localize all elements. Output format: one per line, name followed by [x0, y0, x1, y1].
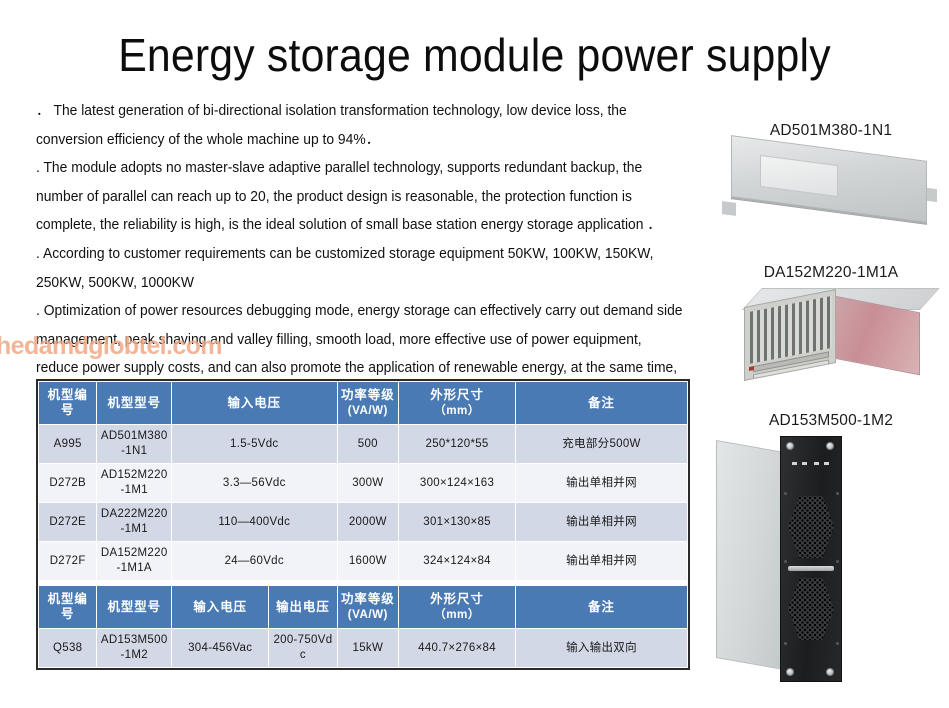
product-image-ad153m500-1m2	[714, 430, 948, 686]
spec-table-grid: 机型编号 机型型号 输入电压 功率等级 (VA/W) 外形尺寸 （mm） 备注	[38, 381, 688, 668]
header-cell-power-level: 功率等级 (VA/W)	[337, 382, 399, 425]
body-paragraph-3: . According to customer requirements can…	[36, 240, 684, 297]
panel-screw-icon	[826, 442, 834, 450]
table-header-row-section2: 机型编号 机型型号 输入电压 输出电压 功率等级 (VA/W) 外形尺寸 （mm	[39, 586, 688, 629]
header-cell-model-number-2: 机型编号	[39, 586, 97, 629]
cell-input-voltage: 3.3—56Vdc	[172, 464, 337, 503]
panel-fastener-icon	[836, 492, 839, 495]
cell-power-level: 2000W	[337, 503, 399, 542]
header-cell-remarks: 备注	[515, 382, 687, 425]
cell-model-type: AD153M500-1M2	[97, 629, 172, 668]
cell-dimensions: 301×130×85	[399, 503, 516, 542]
header-cell-power-level-2: 功率等级 (VA/W)	[337, 586, 399, 629]
table-header-row-section1: 机型编号 机型型号 输入电压 功率等级 (VA/W) 外形尺寸 （mm） 备注	[39, 382, 688, 425]
header-cell-model-type: 机型型号	[97, 382, 172, 425]
header-cell-remarks-2: 备注	[515, 586, 687, 629]
cell-remarks: 输出单相并网	[515, 503, 687, 542]
product-block-3: AD153M500-1M2	[714, 412, 948, 686]
table-row: A995 AD501M380-1N1 1.5-5Vdc 500 250*120*…	[39, 425, 688, 464]
cell-model-number: Q538	[39, 629, 97, 668]
header-cell-output-voltage-2: 输出电压	[269, 586, 337, 629]
cell-input-voltage: 1.5-5Vdc	[172, 425, 337, 464]
panel-screw-icon	[826, 668, 834, 676]
header-cell-input-voltage: 输入电压	[172, 382, 337, 425]
product-image-ad501m380-1n1	[714, 140, 948, 236]
panel-fastener-icon	[784, 492, 787, 495]
panel-fastener-icon	[836, 560, 839, 563]
cell-input-voltage: 24—60Vdc	[172, 542, 337, 581]
cell-model-type: AD152M220-1M1	[97, 464, 172, 503]
indicator-led-icon	[824, 462, 829, 465]
product-label-ad153m500-1m2: AD153M500-1M2	[714, 412, 948, 430]
rack-module-side-panel	[716, 440, 784, 670]
rack-module-front-face	[780, 436, 842, 682]
cell-model-type: DA222M220-1M1	[97, 503, 172, 542]
panel-screw-icon	[786, 442, 794, 450]
cell-remarks: 输出单相并网	[515, 542, 687, 581]
cell-model-number: D272E	[39, 503, 97, 542]
cell-remarks: 充电部分500W	[515, 425, 687, 464]
table-row: D272B AD152M220-1M1 3.3—56Vdc 300W 300×1…	[39, 464, 688, 503]
cell-model-number: D272B	[39, 464, 97, 503]
body-paragraph-1: ． The latest generation of bi-directiona…	[36, 97, 684, 154]
cell-output-voltage: 200-750Vdc	[269, 629, 337, 668]
cell-model-type: DA152M220-1M1A	[97, 542, 172, 581]
cell-dimensions: 324×124×84	[399, 542, 516, 581]
chassis-mount-ear-left-icon	[722, 201, 736, 216]
cell-model-type: AD501M380-1N1	[97, 425, 172, 464]
cell-power-level: 300W	[337, 464, 399, 503]
panel-screw-icon	[786, 668, 794, 676]
indicator-led-icon	[814, 462, 819, 465]
panel-fastener-icon	[784, 642, 787, 645]
cell-input-voltage: 110—400Vdc	[172, 503, 337, 542]
header-cell-dimensions: 外形尺寸 （mm）	[399, 382, 516, 425]
cell-model-number: D272F	[39, 542, 97, 581]
header-cell-input-voltage-2: 输入电压	[172, 586, 269, 629]
page-title: Energy storage module power supply	[33, 26, 916, 84]
header-cell-model-number: 机型编号	[39, 382, 97, 425]
cell-power-level: 15kW	[337, 629, 399, 668]
product-block-1: AD501M380-1N1	[714, 122, 948, 236]
specification-table: 机型编号 机型型号 输入电压 功率等级 (VA/W) 外形尺寸 （mm） 备注	[36, 379, 690, 670]
product-block-2: DA152M220-1M1A	[714, 264, 948, 382]
cell-remarks: 输出单相并网	[515, 464, 687, 503]
cell-power-level: 500	[337, 425, 399, 464]
cell-dimensions: 250*120*55	[399, 425, 516, 464]
table-row: D272F DA152M220-1M1A 24—60Vdc 1600W 324×…	[39, 542, 688, 581]
indicator-led-icon	[802, 462, 807, 465]
panel-fastener-icon	[784, 560, 787, 563]
cell-input-voltage: 304-456Vac	[172, 629, 269, 668]
cell-remarks: 输入输出双向	[515, 629, 687, 668]
cell-dimensions: 300×124×163	[399, 464, 516, 503]
header-cell-model-type-2: 机型型号	[97, 586, 172, 629]
table-row: Q538 AD153M500-1M2 304-456Vac 200-750Vdc…	[39, 629, 688, 668]
header-cell-dimensions-2: 外形尺寸 （mm）	[399, 586, 516, 629]
module-pull-handle	[788, 566, 834, 571]
panel-fastener-icon	[836, 642, 839, 645]
cell-dimensions: 440.7×276×84	[399, 629, 516, 668]
indicator-led-icon	[792, 462, 797, 465]
cell-power-level: 1600W	[337, 542, 399, 581]
product-label-da152m220-1m1a: DA152M220-1M1A	[714, 264, 948, 282]
body-paragraph-2: . The module adopts no master-slave adap…	[36, 154, 684, 240]
cell-model-number: A995	[39, 425, 97, 464]
table-row: D272E DA222M220-1M1 110—400Vdc 2000W 301…	[39, 503, 688, 542]
description-text-block: ． The latest generation of bi-directiona…	[36, 97, 684, 412]
product-image-da152m220-1m1a	[714, 282, 948, 382]
